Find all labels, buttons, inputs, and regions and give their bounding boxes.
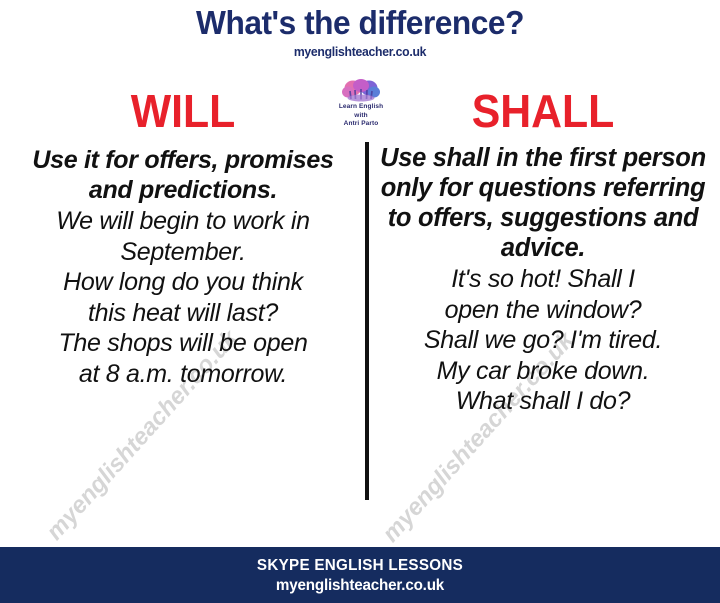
logo-line-3: Antri Parto <box>326 120 396 129</box>
example-line: this heat will last? <box>8 298 358 329</box>
column-shall: SHALL Use shall in the first person only… <box>372 88 714 417</box>
poster-footer: SKYPE ENGLISH LESSONS myenglishteacher.c… <box>0 547 720 603</box>
example-line: Shall we go? I'm tired. <box>372 325 714 356</box>
example-line: at 8 a.m. tomorrow. <box>8 359 358 390</box>
brain-logo-icon <box>340 78 382 102</box>
examples-shall: It's so hot! Shall I open the window? Sh… <box>372 264 714 417</box>
column-divider <box>365 142 369 500</box>
heading-will: WILL <box>20 88 346 134</box>
page-title: What's the difference? <box>14 0 705 41</box>
poster-canvas: What's the difference? myenglishteacher.… <box>0 0 720 603</box>
logo-caption: Learn English with Antri Parto <box>326 103 396 129</box>
example-line: We will begin to work in <box>8 206 358 237</box>
example-line: What shall I do? <box>372 386 714 417</box>
example-line: It's so hot! Shall I <box>372 264 714 295</box>
logo-line-1: Learn English <box>326 103 396 112</box>
example-line: How long do you think <box>8 267 358 298</box>
footer-website: myenglishteacher.co.uk <box>18 577 702 595</box>
example-line: My car broke down. <box>372 356 714 387</box>
header-website-subtitle: myenglishteacher.co.uk <box>22 44 699 59</box>
example-line: September. <box>8 237 358 268</box>
examples-will: We will begin to work in September. How … <box>8 206 358 389</box>
brand-logo: Learn English with Antri Parto <box>326 78 396 129</box>
example-line: open the window? <box>372 295 714 326</box>
heading-shall: SHALL <box>384 88 702 134</box>
example-line: The shops will be open <box>8 328 358 359</box>
column-will: WILL Use it for offers, promises and pre… <box>8 88 358 389</box>
poster-header: What's the difference? myenglishteacher.… <box>0 0 720 59</box>
comparison-columns: myenglishteacher.co.uk myenglishteacher.… <box>0 88 720 513</box>
logo-line-2: with <box>326 112 396 121</box>
rule-text-will: Use it for offers, promises and predicti… <box>8 146 358 205</box>
footer-service-label: SKYPE ENGLISH LESSONS <box>18 547 702 575</box>
rule-text-shall: Use shall in the first person only for q… <box>372 143 714 263</box>
